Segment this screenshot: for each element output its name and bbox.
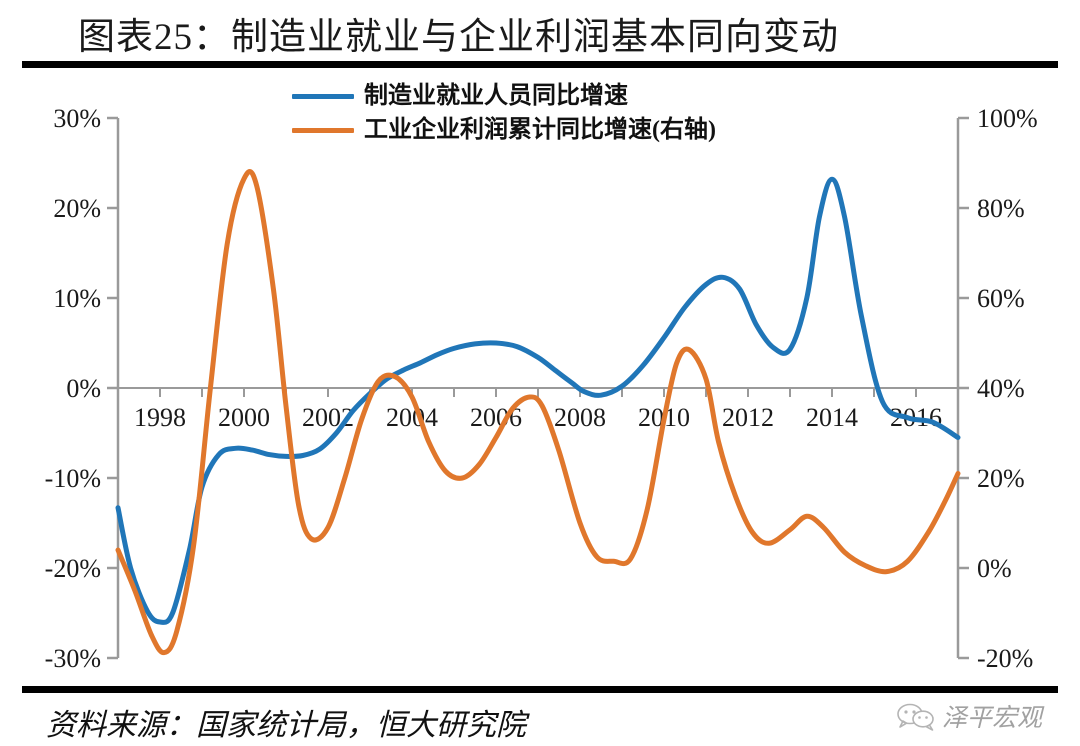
- x-axis-tick-label: 1998: [134, 403, 186, 432]
- x-axis-tick-label: 2006: [470, 403, 522, 432]
- page-title: 图表25：制造业就业与企业利润基本同向变动: [78, 6, 839, 60]
- source-note: 资料来源：国家统计局，恒大研究院: [46, 700, 526, 744]
- legend-swatch-blue: [292, 94, 354, 99]
- right-axis-tick-label: 40%: [977, 374, 1025, 403]
- legend-label-series-1: 工业企业利润累计同比增速(右轴): [364, 117, 716, 143]
- left-axis-tick-label: -10%: [45, 464, 101, 493]
- series-group: [118, 171, 958, 652]
- chart-legend: 制造业就业人员同比增速 工业企业利润累计同比增速(右轴): [292, 82, 716, 144]
- left-axis-tick-label: 0%: [66, 374, 101, 403]
- left-axis-tick-label: 20%: [53, 194, 101, 223]
- x-axis-tick-label: 2000: [218, 403, 270, 432]
- left-axis-tick-label: 10%: [53, 284, 101, 313]
- legend-label-series-0: 制造业就业人员同比增速: [364, 83, 628, 109]
- series-line-1: [118, 171, 958, 652]
- legend-item-series-0: 制造业就业人员同比增速: [292, 82, 716, 110]
- legend-swatch-orange: [292, 128, 354, 133]
- wechat-logo-icon: [896, 701, 936, 731]
- x-axis-tick-label: 2002: [302, 403, 354, 432]
- right-axis-tick-label: 60%: [977, 284, 1025, 313]
- left-axis-tick-label: -20%: [45, 554, 101, 583]
- legend-item-series-1: 工业企业利润累计同比增速(右轴): [292, 116, 716, 144]
- x-axis-tick-label: 2008: [554, 403, 606, 432]
- x-axis-tick-label: 2004: [386, 403, 438, 432]
- chart-figure: 图表25：制造业就业与企业利润基本同向变动 制造业就业人员同比增速 工业企业利润…: [0, 0, 1080, 746]
- watermark-label: 泽平宏观: [942, 698, 1042, 734]
- left-axis-tick-label: -30%: [45, 644, 101, 673]
- divider-bottom: [22, 686, 1058, 693]
- right-axis-tick-label: -20%: [977, 644, 1033, 673]
- right-axis-tick-label: 80%: [977, 194, 1025, 223]
- left-axis-tick-label: 30%: [53, 104, 101, 133]
- x-axis-tick-label: 2012: [722, 403, 774, 432]
- series-line-0: [118, 179, 958, 622]
- right-axis-tick-label: 0%: [977, 554, 1012, 583]
- axes-group: 30%20%10%0%-10%-20%-30%100%80%60%40%20%0…: [45, 104, 1038, 673]
- x-axis-tick-label: 2014: [806, 403, 858, 432]
- right-axis-tick-label: 100%: [977, 104, 1038, 133]
- x-axis-tick-label: 2010: [638, 403, 690, 432]
- right-axis-tick-label: 20%: [977, 464, 1025, 493]
- title-block: 图表25：制造业就业与企业利润基本同向变动: [0, 0, 1080, 70]
- x-axis-tick-label: 2016: [890, 403, 942, 432]
- divider-top: [22, 61, 1058, 68]
- watermark: 泽平宏观: [896, 698, 1042, 734]
